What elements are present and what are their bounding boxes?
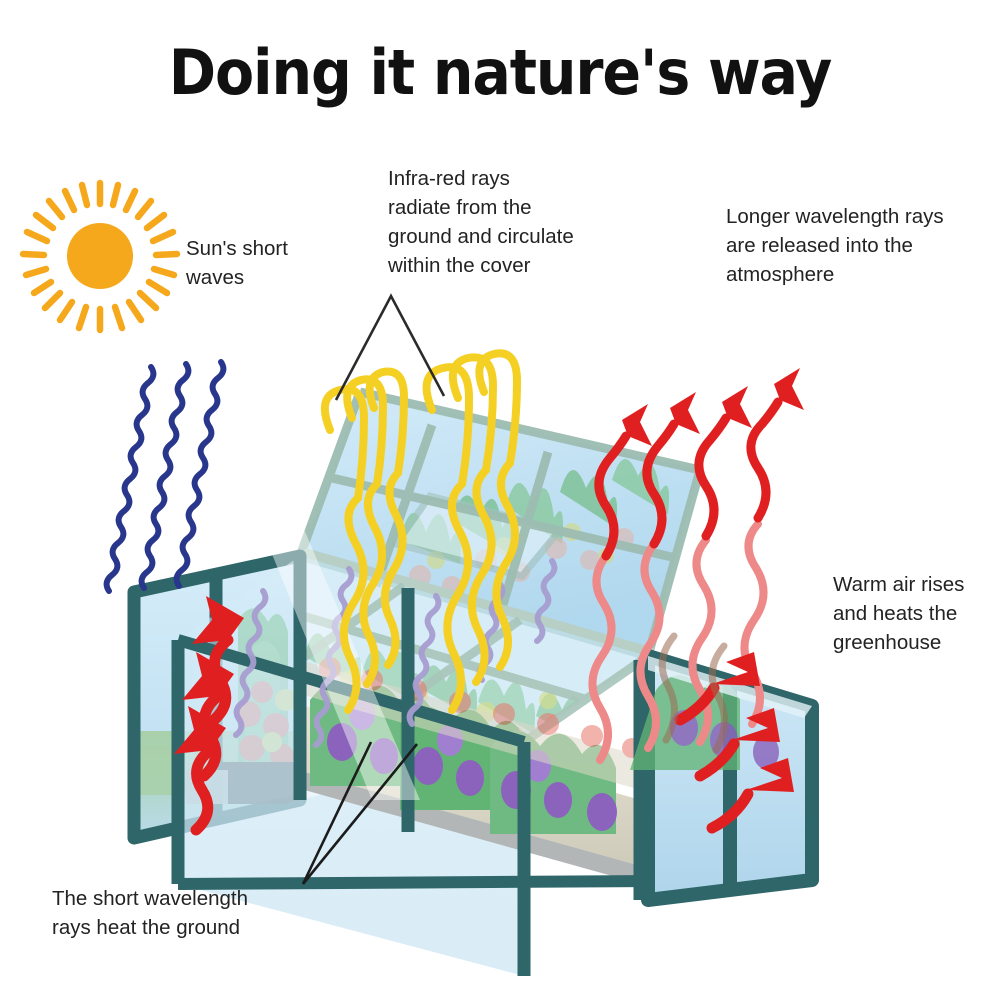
- infographic-canvas: Doing it nature's way: [0, 0, 1000, 1000]
- caption-infra-red-rays: Infra-red rays radiate from the ground a…: [388, 164, 574, 280]
- sun-icon: [23, 183, 177, 330]
- short-wave-rays-incoming: [107, 362, 224, 591]
- caption-warm-air-rises: Warm air rises and heats the greenhouse: [833, 570, 964, 657]
- greenhouse-diagram: [0, 0, 1000, 1000]
- caption-sun-short-waves: Sun's short waves: [186, 234, 288, 292]
- caption-longer-wavelength: Longer wavelength rays are released into…: [726, 202, 944, 289]
- caption-short-wavelength-ground: The short wavelength rays heat the groun…: [52, 884, 248, 942]
